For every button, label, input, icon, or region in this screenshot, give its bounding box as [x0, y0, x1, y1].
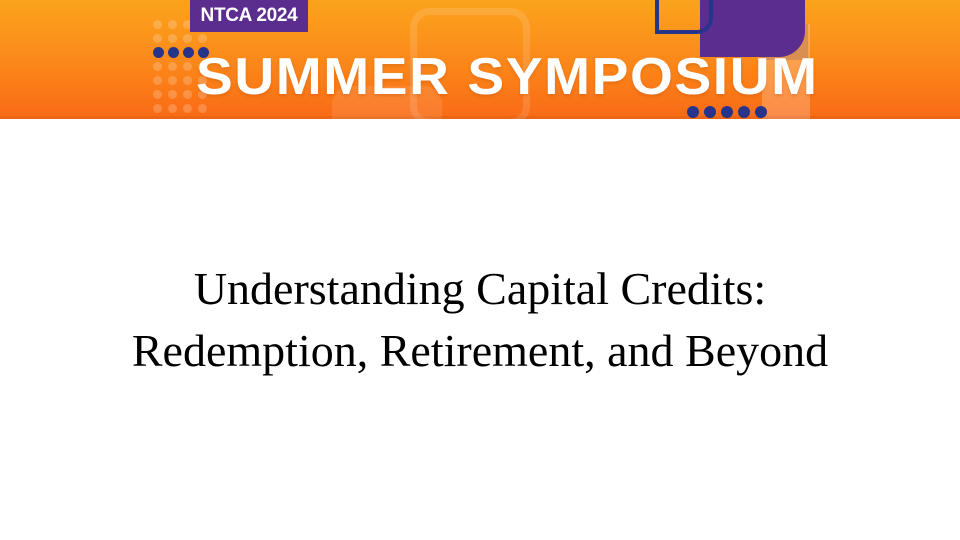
ntca-year-badge-label: NTCA 2024	[201, 6, 298, 25]
slide-title-line-2: Redemption, Retirement, and Beyond	[0, 320, 960, 382]
slide-canvas: NTCA 2024 SUMMER SYMPOSIUM Understanding…	[0, 0, 960, 540]
slide-title-line-1: Understanding Capital Credits:	[0, 258, 960, 320]
event-banner: NTCA 2024 SUMMER SYMPOSIUM	[0, 0, 960, 119]
summer-symposium-wordmark: SUMMER SYMPOSIUM	[196, 50, 819, 104]
navy-outline-square-decoration	[655, 0, 713, 34]
slide-title: Understanding Capital Credits: Redemptio…	[0, 258, 960, 382]
navy-dots-right-decoration	[687, 106, 767, 119]
ntca-year-badge: NTCA 2024	[190, 0, 308, 32]
